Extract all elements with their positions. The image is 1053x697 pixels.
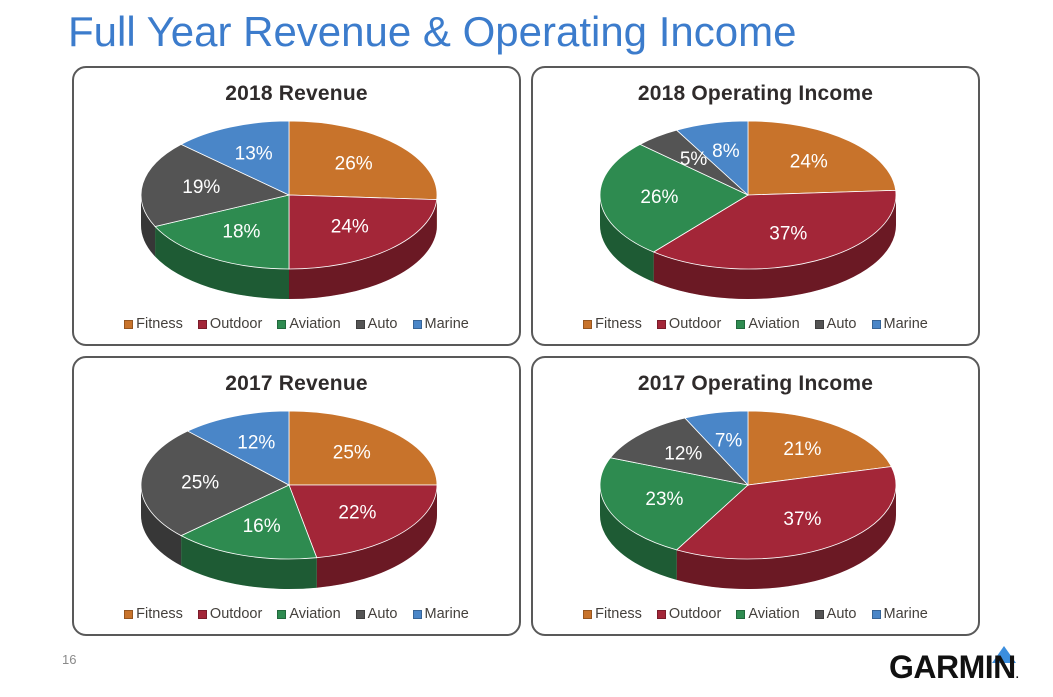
legend-item-aviation[interactable]: Aviation bbox=[277, 606, 340, 622]
pie-slice-label: 37% bbox=[783, 509, 821, 530]
chart-card: 2017 Operating Income21%37%23%12%7%Fitne… bbox=[531, 356, 980, 636]
legend-swatch-icon bbox=[124, 610, 133, 619]
legend-swatch-icon bbox=[815, 320, 824, 329]
pie-chart-svg: 24%37%26%5%8% bbox=[586, 109, 926, 309]
legend-label: Outdoor bbox=[210, 606, 262, 622]
legend-item-aviation[interactable]: Aviation bbox=[736, 316, 799, 332]
legend-swatch-icon bbox=[583, 320, 592, 329]
legend-swatch-icon bbox=[277, 320, 286, 329]
chart-title: 2018 Revenue bbox=[74, 82, 519, 106]
pie-chart: 21%37%23%12%7% bbox=[533, 400, 978, 598]
legend-label: Aviation bbox=[748, 316, 799, 332]
chart-card: 2018 Revenue26%24%18%19%13%FitnessOutdoo… bbox=[72, 66, 521, 346]
pie-slice-label: 22% bbox=[338, 502, 376, 523]
legend-label: Aviation bbox=[289, 606, 340, 622]
legend-swatch-icon bbox=[277, 610, 286, 619]
garmin-wordmark-text: GARMIN bbox=[889, 649, 1016, 685]
legend-swatch-icon bbox=[872, 610, 881, 619]
chart-card: 2017 Revenue25%22%16%25%12%FitnessOutdoo… bbox=[72, 356, 521, 636]
pie-slice-label: 8% bbox=[712, 141, 740, 162]
legend-item-auto[interactable]: Auto bbox=[815, 316, 857, 332]
legend-label: Outdoor bbox=[669, 606, 721, 622]
legend-item-outdoor[interactable]: Outdoor bbox=[657, 316, 721, 332]
pie-slice-label: 12% bbox=[664, 444, 702, 465]
chart-legend: FitnessOutdoorAviationAutoMarine bbox=[74, 606, 519, 622]
pie-slice-label: 5% bbox=[679, 149, 707, 170]
pie-slice-label: 18% bbox=[222, 222, 260, 243]
legend-item-marine[interactable]: Marine bbox=[872, 606, 928, 622]
pie-slice-label: 16% bbox=[242, 516, 280, 537]
pie-slice-label: 12% bbox=[237, 433, 275, 454]
legend-item-aviation[interactable]: Aviation bbox=[736, 606, 799, 622]
legend-swatch-icon bbox=[124, 320, 133, 329]
legend-swatch-icon bbox=[657, 610, 666, 619]
legend-item-outdoor[interactable]: Outdoor bbox=[198, 316, 262, 332]
legend-label: Marine bbox=[425, 606, 469, 622]
pie-slice-label: 37% bbox=[769, 224, 807, 245]
legend-swatch-icon bbox=[413, 610, 422, 619]
legend-swatch-icon bbox=[356, 320, 365, 329]
legend-label: Auto bbox=[827, 606, 857, 622]
legend-swatch-icon bbox=[657, 320, 666, 329]
chart-card: 2018 Operating Income24%37%26%5%8%Fitnes… bbox=[531, 66, 980, 346]
legend-swatch-icon bbox=[413, 320, 422, 329]
pie-slice-label: 25% bbox=[332, 443, 370, 464]
legend-label: Auto bbox=[368, 316, 398, 332]
legend-label: Fitness bbox=[595, 606, 642, 622]
pie-slice-label: 13% bbox=[234, 143, 272, 164]
legend-label: Auto bbox=[368, 606, 398, 622]
pie-slice-label: 7% bbox=[714, 431, 742, 452]
legend-item-outdoor[interactable]: Outdoor bbox=[198, 606, 262, 622]
chart-legend: FitnessOutdoorAviationAutoMarine bbox=[533, 606, 978, 622]
pie-chart: 24%37%26%5%8% bbox=[533, 110, 978, 308]
pie-chart-svg: 21%37%23%12%7% bbox=[586, 399, 926, 599]
legend-item-fitness[interactable]: Fitness bbox=[124, 606, 183, 622]
chart-legend: FitnessOutdoorAviationAutoMarine bbox=[533, 316, 978, 332]
pie-slice-label: 23% bbox=[645, 489, 683, 510]
pie-slice-label: 25% bbox=[181, 473, 219, 494]
legend-item-aviation[interactable]: Aviation bbox=[277, 316, 340, 332]
legend-item-fitness[interactable]: Fitness bbox=[583, 606, 642, 622]
chart-title: 2017 Revenue bbox=[74, 372, 519, 396]
garmin-logo: GARMIN. bbox=[889, 646, 1039, 688]
legend-swatch-icon bbox=[815, 610, 824, 619]
legend-item-marine[interactable]: Marine bbox=[413, 316, 469, 332]
pie-chart: 26%24%18%19%13% bbox=[74, 110, 519, 308]
legend-swatch-icon bbox=[198, 610, 207, 619]
legend-swatch-icon bbox=[198, 320, 207, 329]
legend-item-marine[interactable]: Marine bbox=[872, 316, 928, 332]
legend-swatch-icon bbox=[356, 610, 365, 619]
pie-slice-label: 24% bbox=[789, 152, 827, 173]
chart-title: 2018 Operating Income bbox=[533, 82, 978, 106]
garmin-registered-mark: . bbox=[1016, 669, 1019, 681]
page-title: Full Year Revenue & Operating Income bbox=[68, 8, 796, 56]
page-number: 16 bbox=[62, 652, 76, 667]
pie-slice-label: 24% bbox=[330, 216, 368, 237]
legend-item-marine[interactable]: Marine bbox=[413, 606, 469, 622]
legend-label: Marine bbox=[884, 316, 928, 332]
legend-label: Aviation bbox=[289, 316, 340, 332]
legend-label: Aviation bbox=[748, 606, 799, 622]
pie-slice-label: 26% bbox=[640, 187, 678, 208]
pie-chart-svg: 25%22%16%25%12% bbox=[127, 399, 467, 599]
legend-swatch-icon bbox=[736, 320, 745, 329]
legend-label: Marine bbox=[884, 606, 928, 622]
pie-slice-label: 26% bbox=[334, 154, 372, 175]
legend-swatch-icon bbox=[583, 610, 592, 619]
legend-label: Fitness bbox=[595, 316, 642, 332]
legend-item-outdoor[interactable]: Outdoor bbox=[657, 606, 721, 622]
chart-grid: 2018 Revenue26%24%18%19%13%FitnessOutdoo… bbox=[72, 66, 980, 636]
legend-label: Fitness bbox=[136, 606, 183, 622]
legend-swatch-icon bbox=[872, 320, 881, 329]
legend-label: Auto bbox=[827, 316, 857, 332]
legend-swatch-icon bbox=[736, 610, 745, 619]
legend-item-auto[interactable]: Auto bbox=[356, 606, 398, 622]
legend-item-fitness[interactable]: Fitness bbox=[124, 316, 183, 332]
legend-item-auto[interactable]: Auto bbox=[356, 316, 398, 332]
legend-label: Fitness bbox=[136, 316, 183, 332]
chart-legend: FitnessOutdoorAviationAutoMarine bbox=[74, 316, 519, 332]
legend-item-auto[interactable]: Auto bbox=[815, 606, 857, 622]
legend-label: Outdoor bbox=[210, 316, 262, 332]
chart-title: 2017 Operating Income bbox=[533, 372, 978, 396]
pie-chart-svg: 26%24%18%19%13% bbox=[127, 109, 467, 309]
pie-chart: 25%22%16%25%12% bbox=[74, 400, 519, 598]
legend-item-fitness[interactable]: Fitness bbox=[583, 316, 642, 332]
garmin-wordmark: GARMIN. bbox=[889, 649, 1018, 686]
legend-label: Outdoor bbox=[669, 316, 721, 332]
legend-label: Marine bbox=[425, 316, 469, 332]
pie-slice-label: 19% bbox=[182, 177, 220, 198]
pie-slice-label: 21% bbox=[783, 439, 821, 460]
